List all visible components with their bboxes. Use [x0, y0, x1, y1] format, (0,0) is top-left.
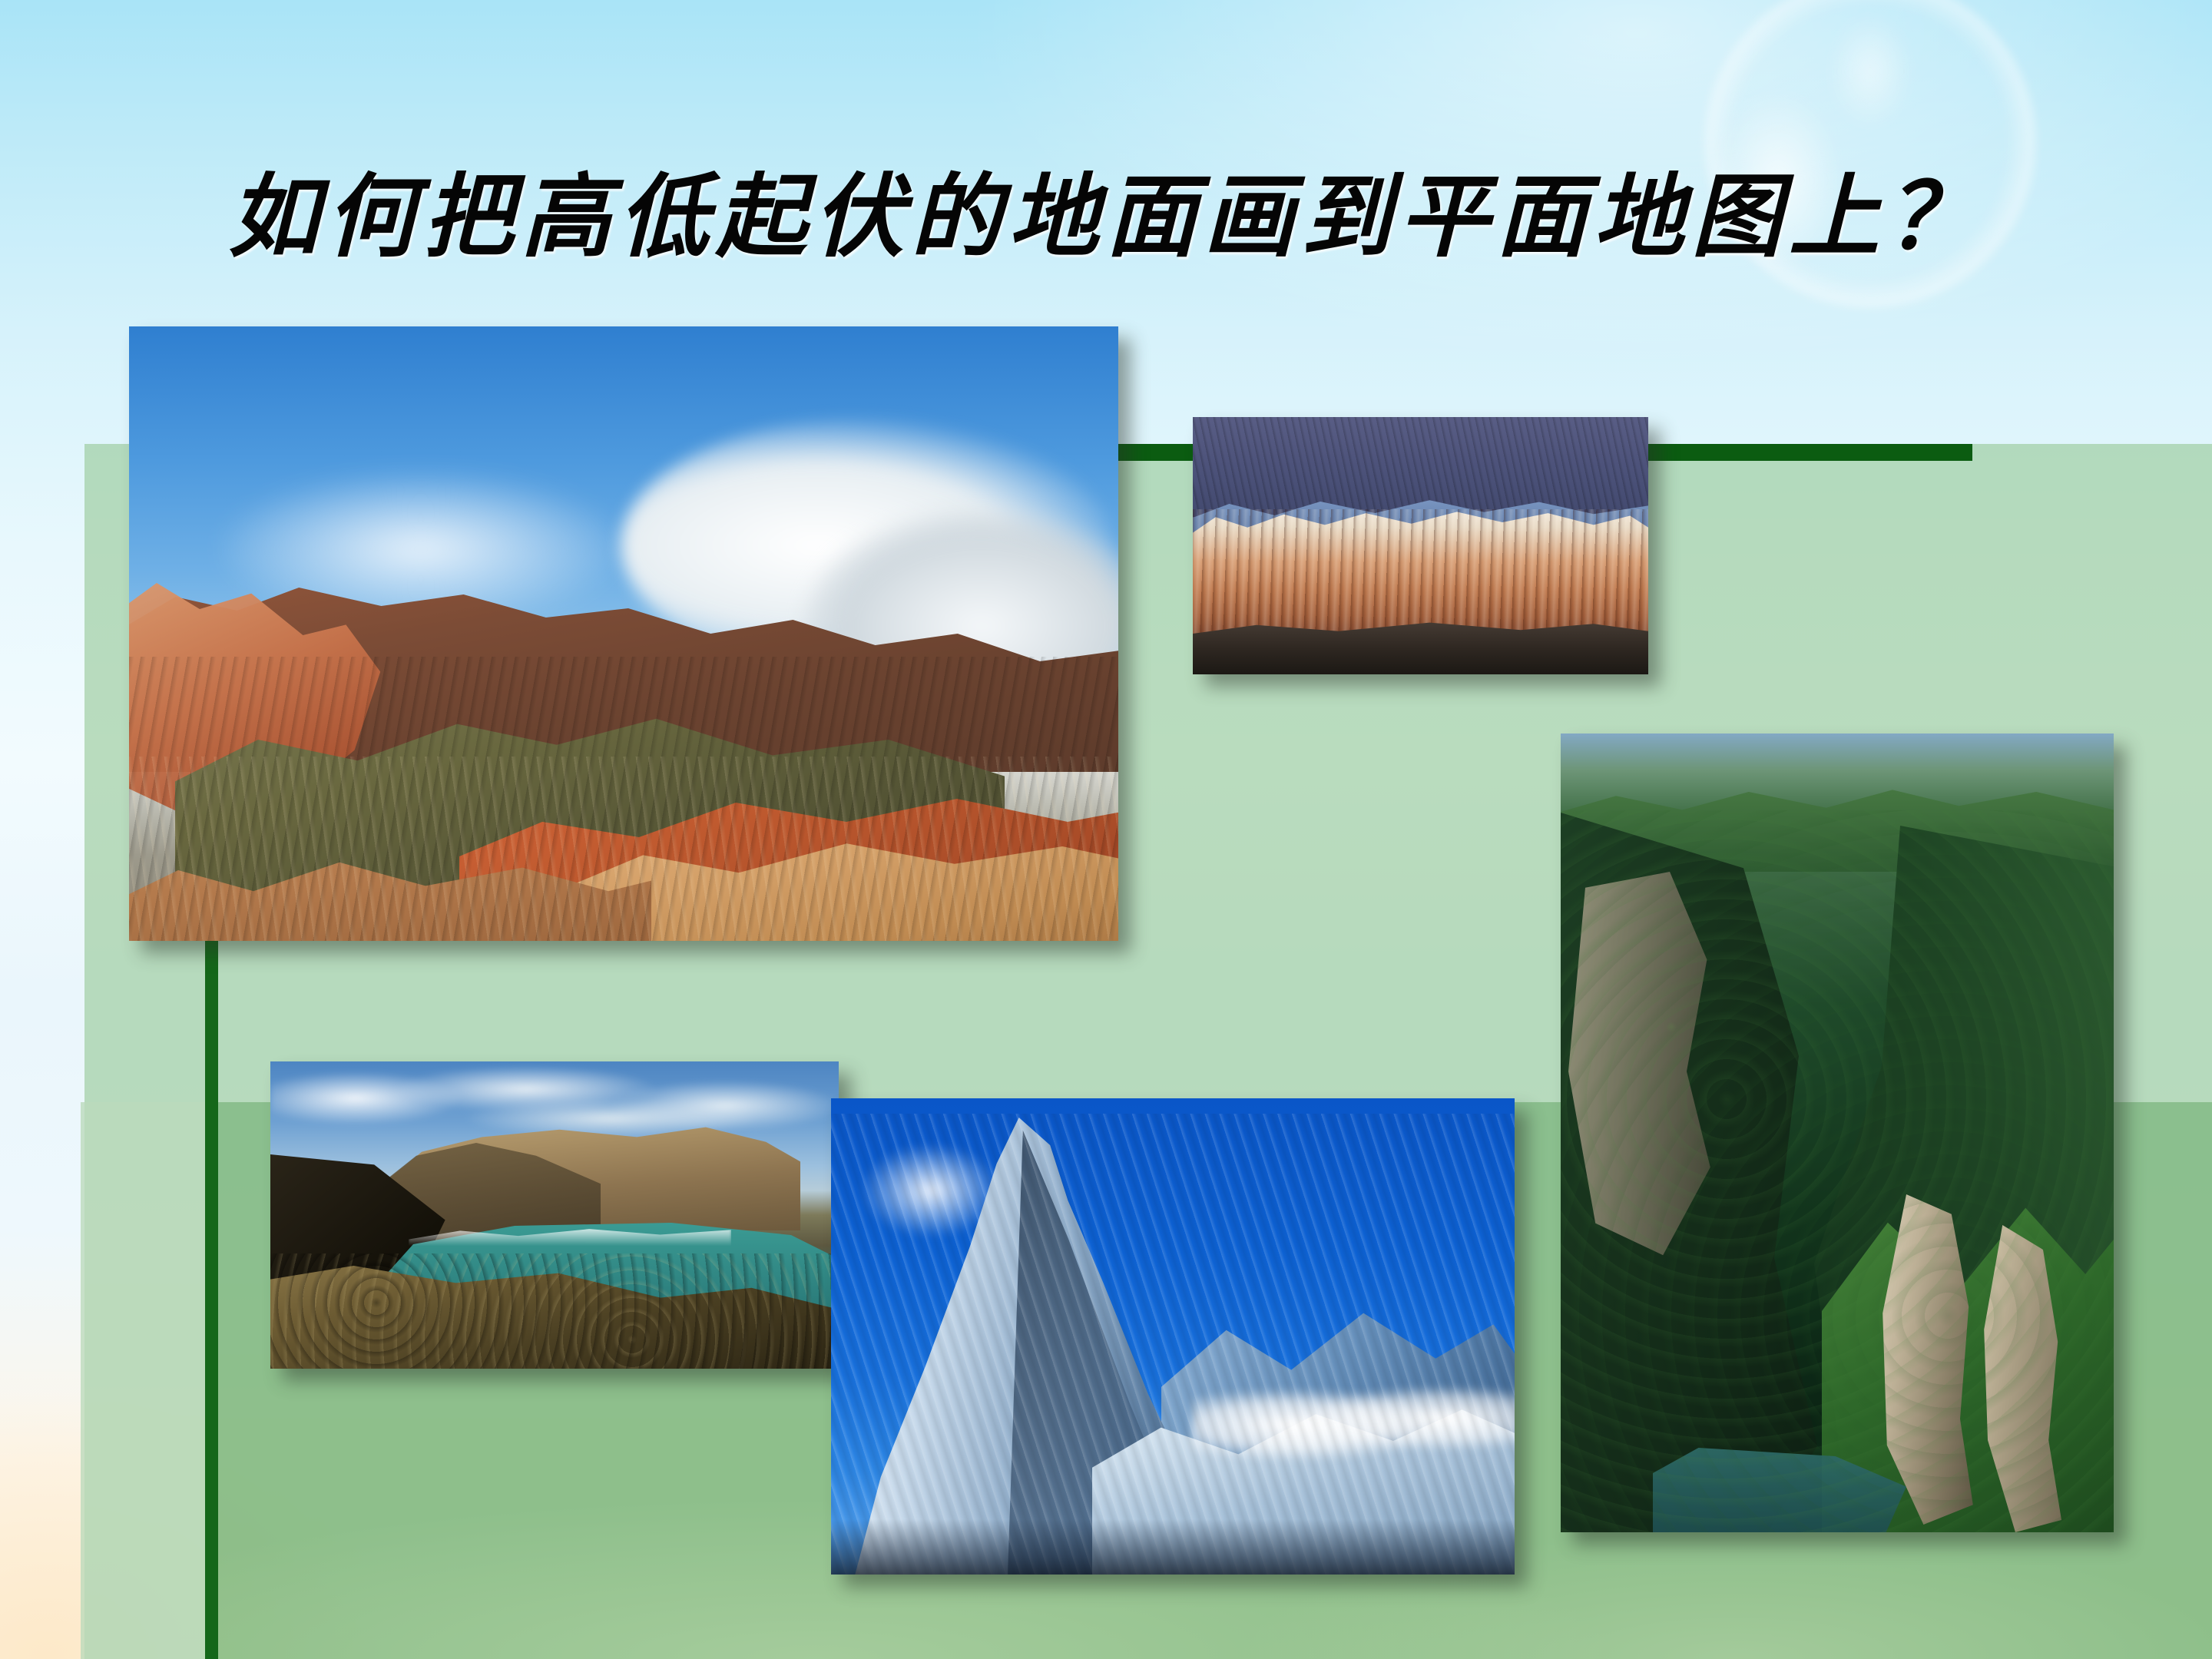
- striped-cliff-texture: [1193, 509, 1648, 640]
- tree-canopy-texture: [1561, 810, 2114, 1532]
- page-title: 如何把高低起伏的地面画到平面地图上？: [0, 143, 2212, 274]
- photo-snow-covered-peak: [831, 1098, 1515, 1575]
- photo-striped-badlands: [1193, 417, 1648, 674]
- snow-rock-texture: [831, 1114, 1515, 1575]
- foreground-shadow: [831, 1519, 1515, 1575]
- photo-danxia-rainbow-mountains: [129, 326, 1118, 941]
- photo-coastal-bay-cliffs: [270, 1061, 839, 1369]
- erosion-highlights: [129, 757, 1118, 941]
- slide-canvas: 如何把高低起伏的地面画到平面地图上？: [0, 0, 2212, 1659]
- green-panel-left-column: [81, 1102, 213, 1659]
- lava-rock-texture: [270, 1253, 831, 1369]
- accent-rule-vertical: [205, 939, 218, 1659]
- lens-flare-small-icon: [1828, 14, 1912, 129]
- photo-green-karst-canyon: [1561, 733, 2114, 1532]
